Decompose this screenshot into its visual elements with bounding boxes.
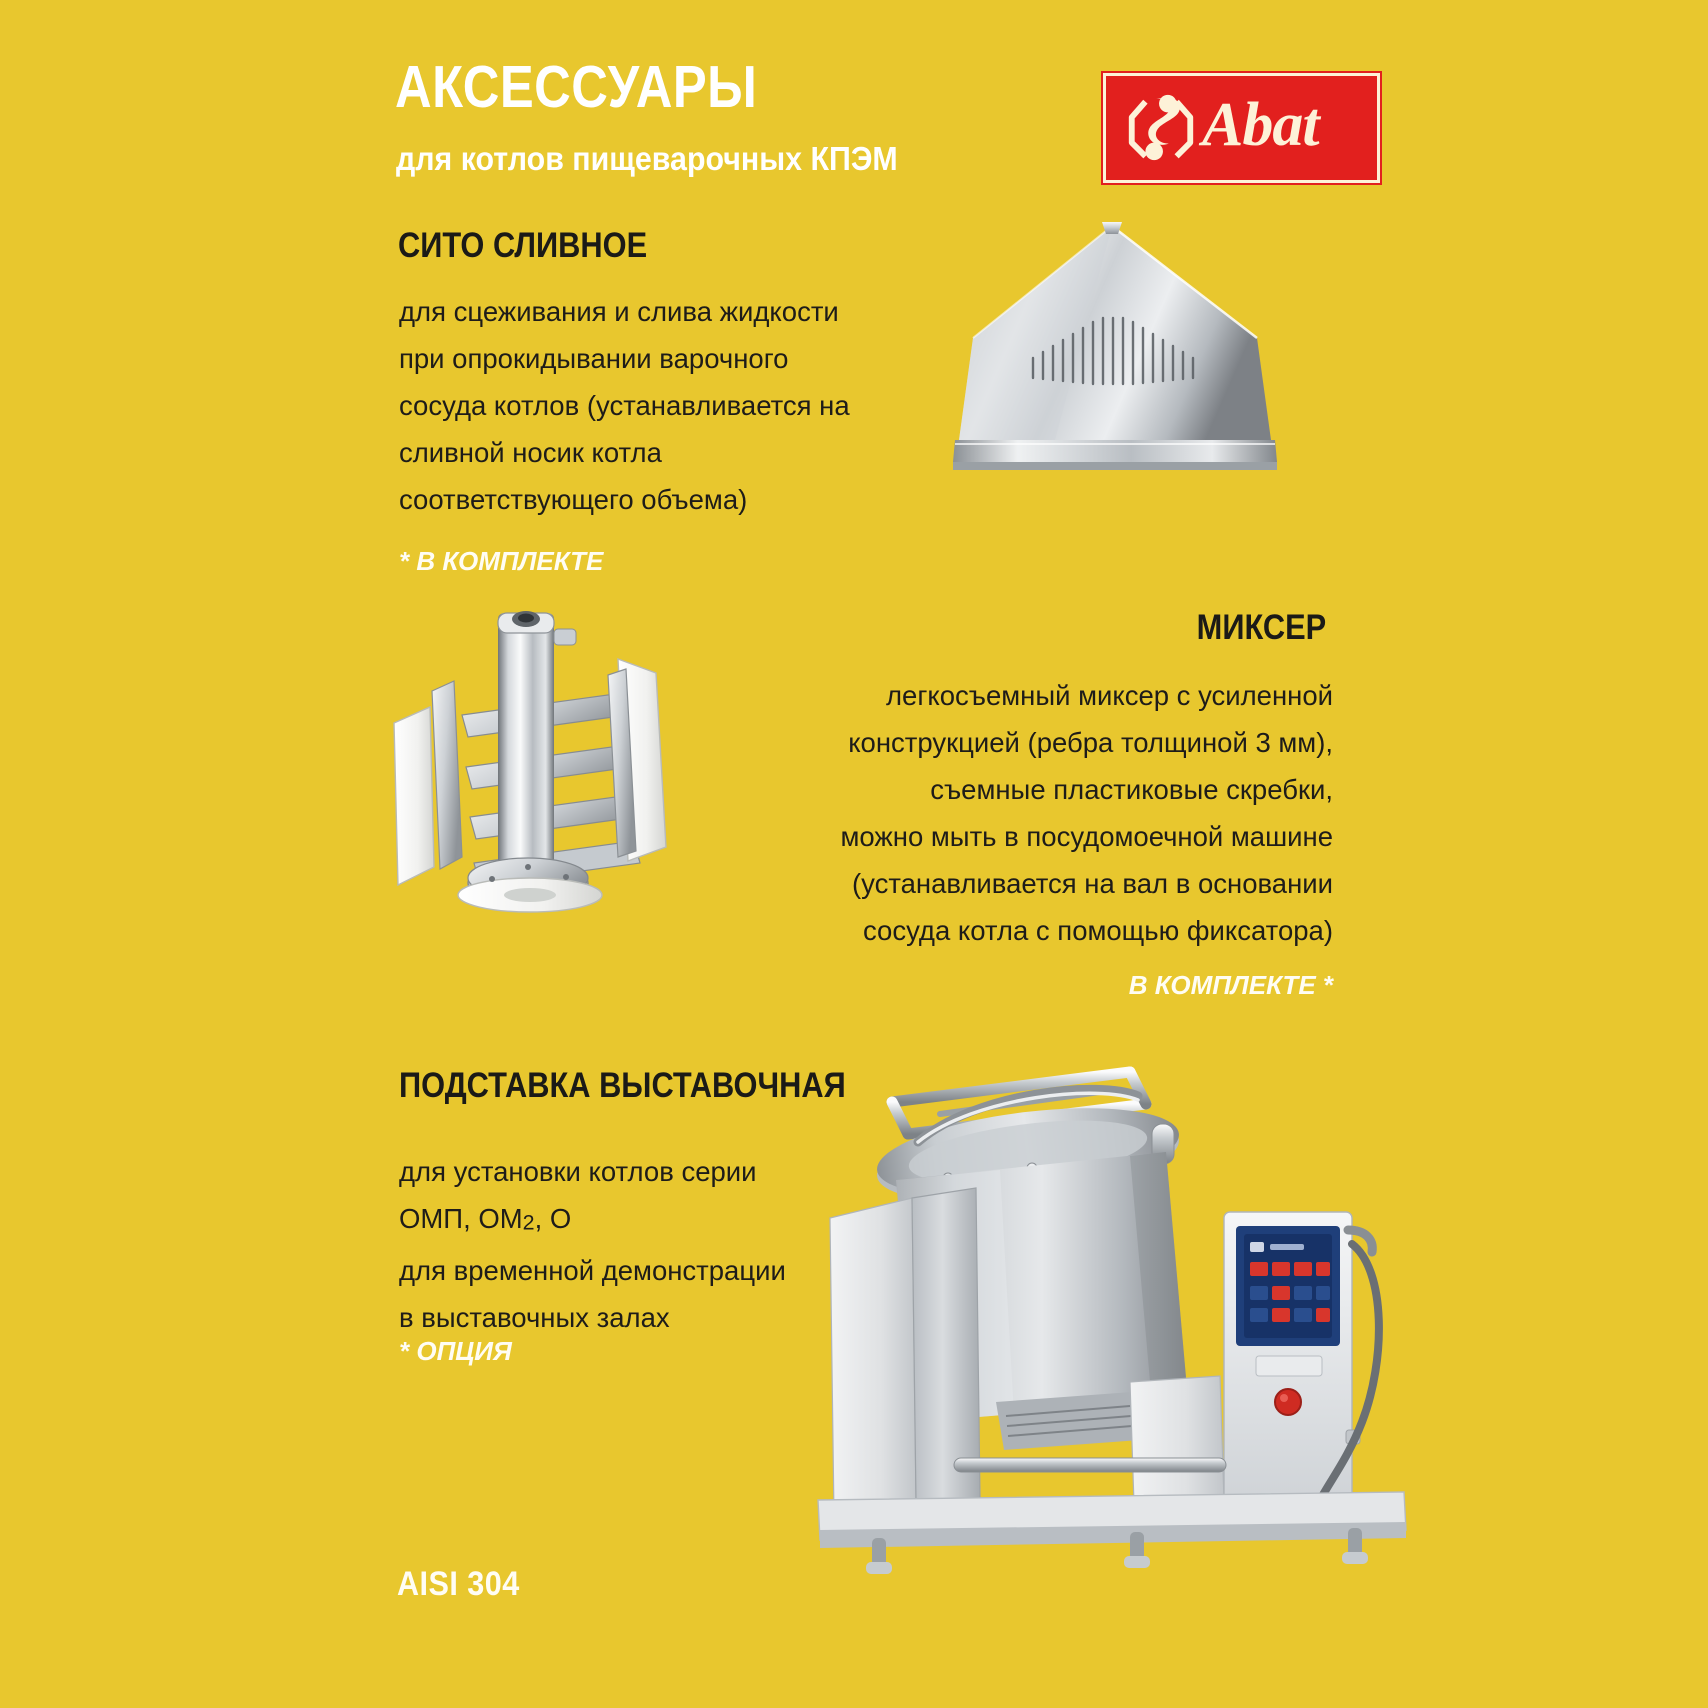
poster-canvas: АКСЕССУАРЫ для котлов пищеварочных КПЭМ … [0,0,1708,1708]
sieve-line-3: сосуда котлов (устанавливается на [399,382,850,429]
stand-availability-note: * ОПЦИЯ [399,1338,512,1364]
drain-sieve-photo [905,218,1325,498]
material-grade-label: AISI 304 [397,1565,520,1604]
stand-description: для установки котлов серии ОМП, ОМ2, О д… [399,1148,786,1341]
mixer-line-6: сосуда котла с помощью фиксатора) [840,907,1333,954]
page-title: АКСЕССУАРЫ [395,58,757,117]
sieve-line-5: соответствующего объема) [399,476,850,523]
mixer-description: легкосъемный миксер с усиленной конструк… [840,672,1333,954]
sieve-line-1: для сцеживания и слива жидкости [399,288,850,335]
page-subtitle: для котлов пищеварочных КПЭМ [396,142,898,175]
mixer-line-2: конструкцией (ребра толщиной 3 мм), [840,719,1333,766]
mixer-line-1: легкосъемный миксер с усиленной [840,672,1333,719]
sieve-line-2: при опрокидывании варочного [399,335,850,382]
stand-line-2: ОМП, ОМ2, О [399,1195,786,1247]
section-heading-sieve: СИТО СЛИВНОЕ [398,228,647,263]
mixer-availability-note: В КОМПЛЕКТЕ * [1129,972,1333,998]
exhibition-stand-kettle-photo [800,1030,1440,1585]
sieve-line-4: сливной носик котла [399,429,850,476]
section-heading-mixer: МИКСЕР [1197,610,1327,645]
stand-line-1: для установки котлов серии [399,1148,786,1195]
brand-wordmark: Abat [1202,94,1319,162]
stand-line-4: в выставочных залах [399,1294,786,1341]
brand-logo: Abat [1103,73,1380,183]
mixer-line-5: (устанавливается на вал в основании [840,860,1333,907]
stand-line-3: для временной демонстрации [399,1247,786,1294]
mixer-line-4: можно мыть в посудомоечной машине [840,813,1333,860]
sieve-availability-note: * В КОМПЛЕКТЕ [399,548,603,574]
mixer-agitator-photo [370,595,740,935]
mixer-line-3: съемные пластиковые скребки, [840,766,1333,813]
section-heading-stand: ПОДСТАВКА ВЫСТАВОЧНАЯ [399,1068,846,1103]
abat-swirl-logo-icon [1122,88,1200,168]
sieve-description: для сцеживания и слива жидкости при опро… [399,288,850,523]
